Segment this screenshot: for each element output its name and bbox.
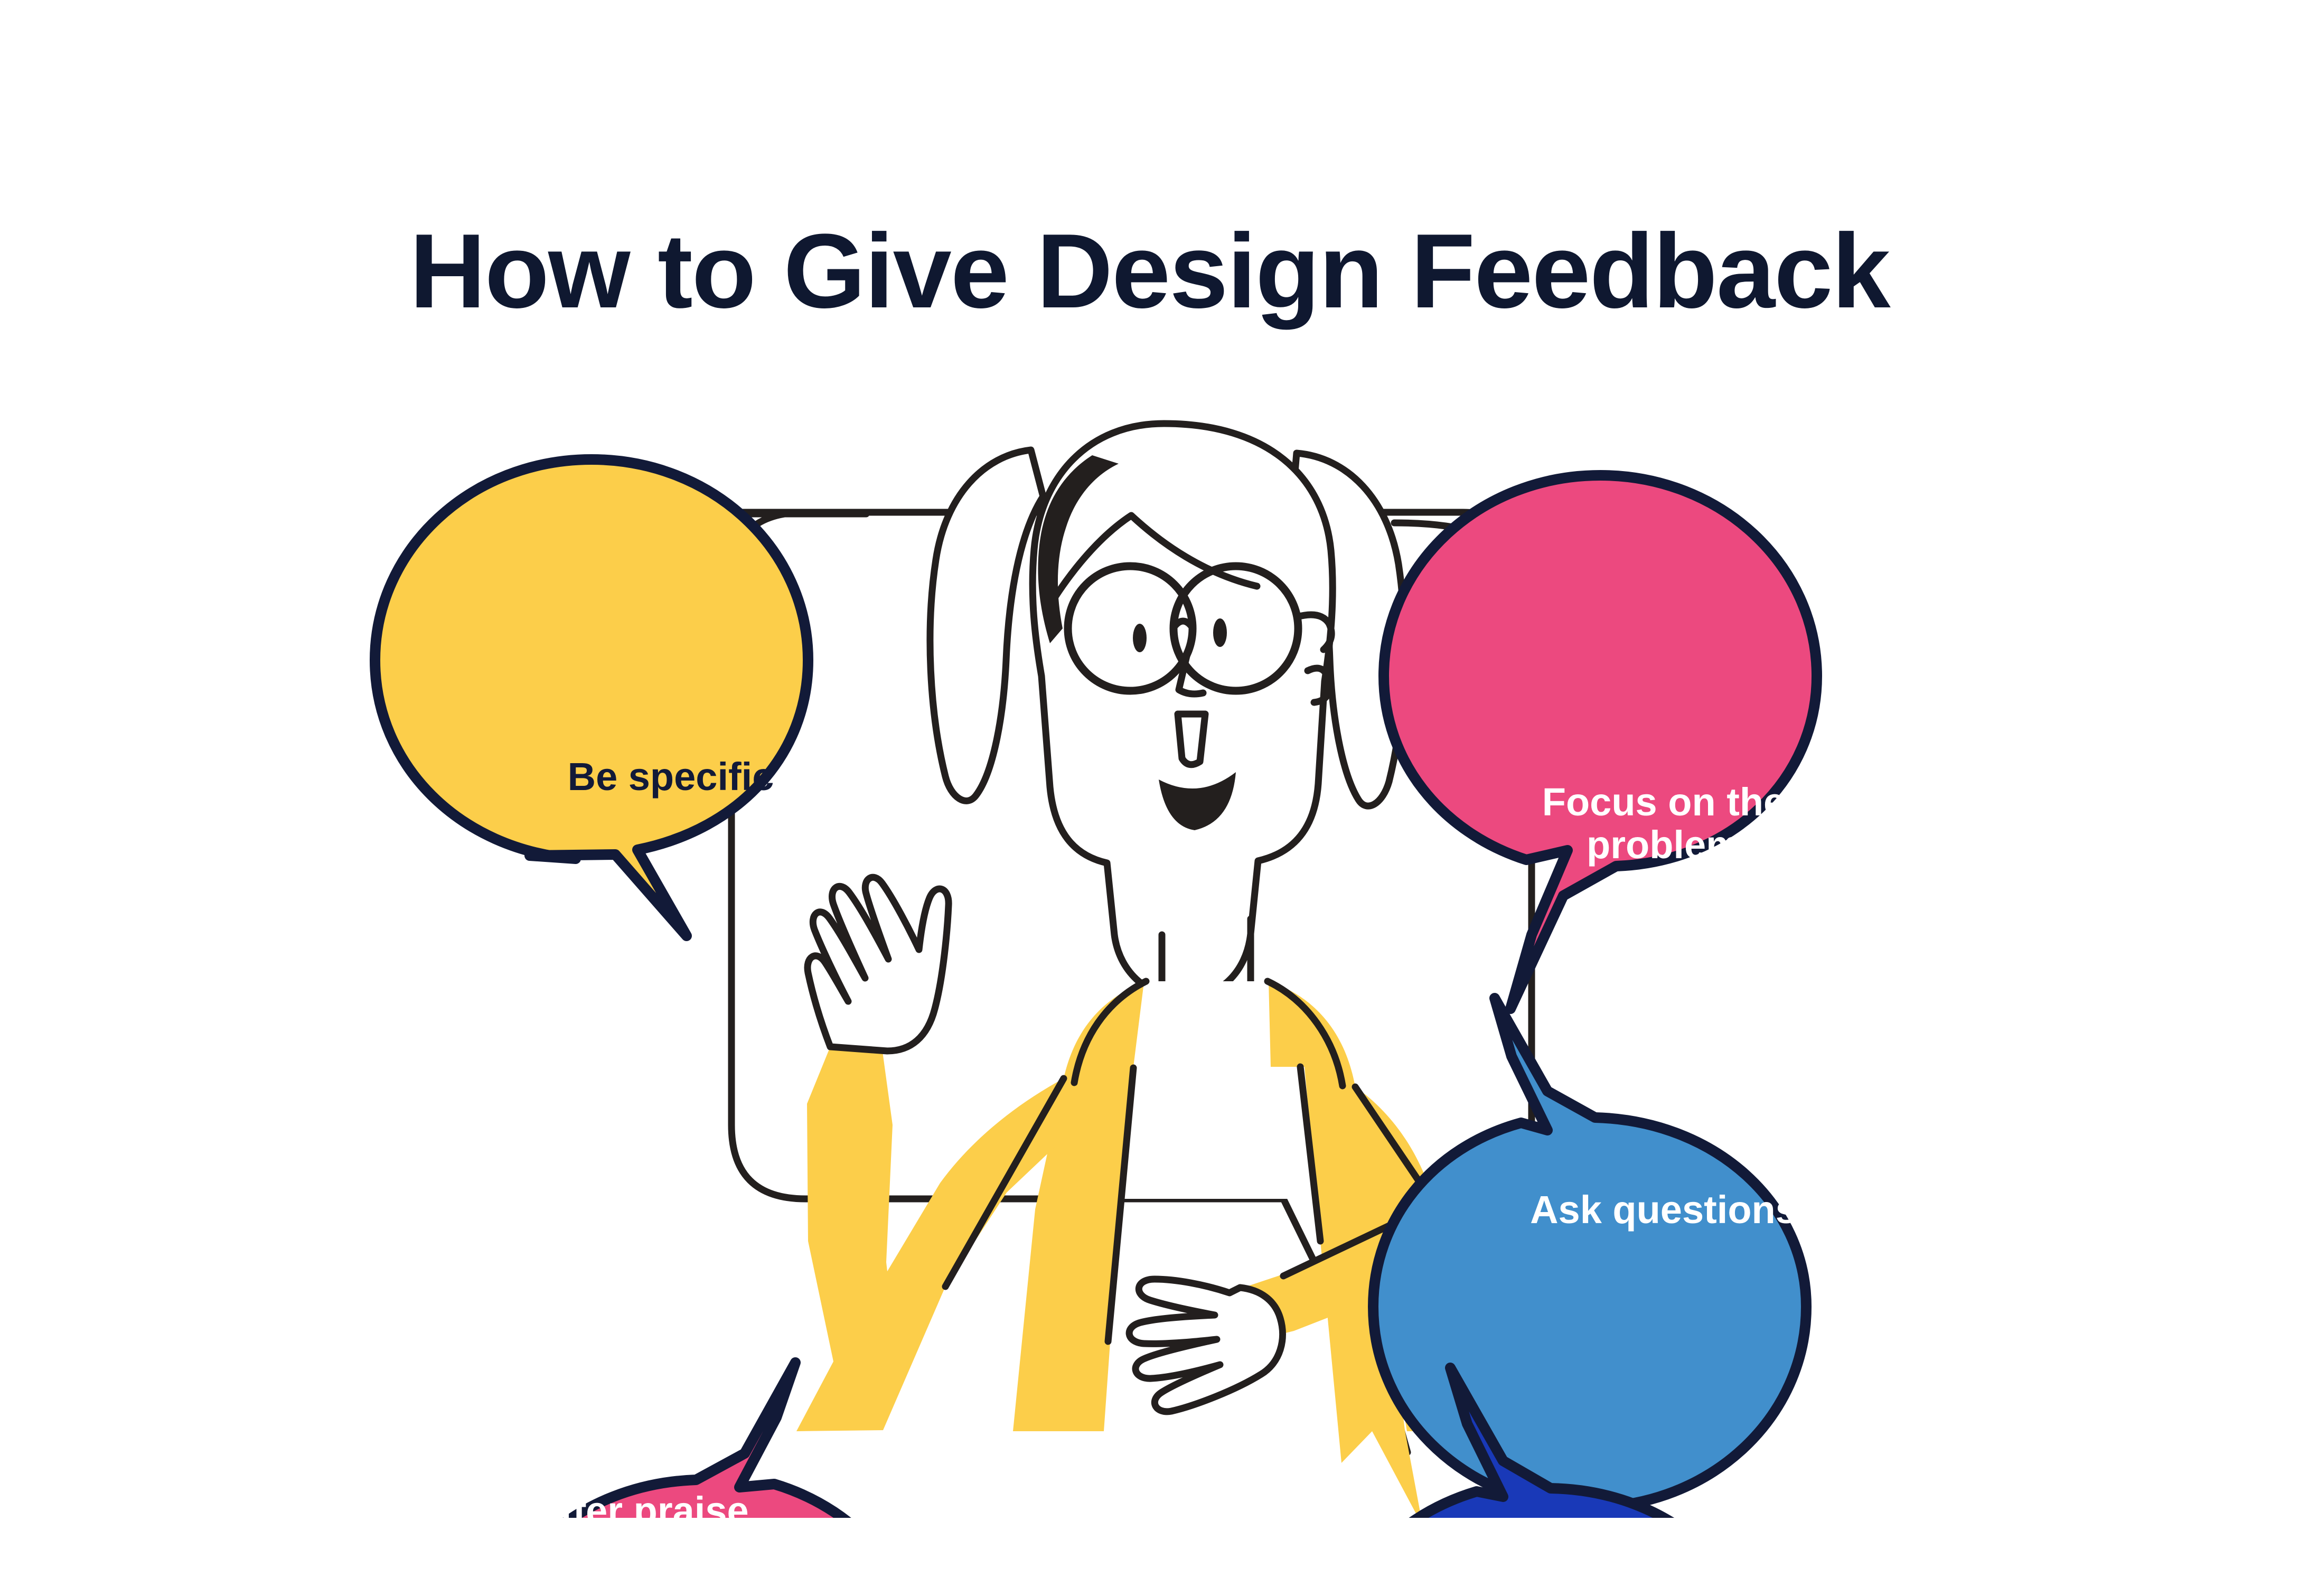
gesturing-hand (1129, 1279, 1282, 1412)
page-title: How to Give Design Feedback (0, 216, 2299, 327)
feedback-illustration-svg (0, 312, 2299, 1518)
illustration-scene: Be specific Focus on the problem Ask que… (0, 312, 2299, 1518)
bubble-label-stay-objective: Stay objective (1426, 1553, 1806, 1595)
infographic-canvas: How to Give Design Feedback (0, 0, 2299, 1518)
